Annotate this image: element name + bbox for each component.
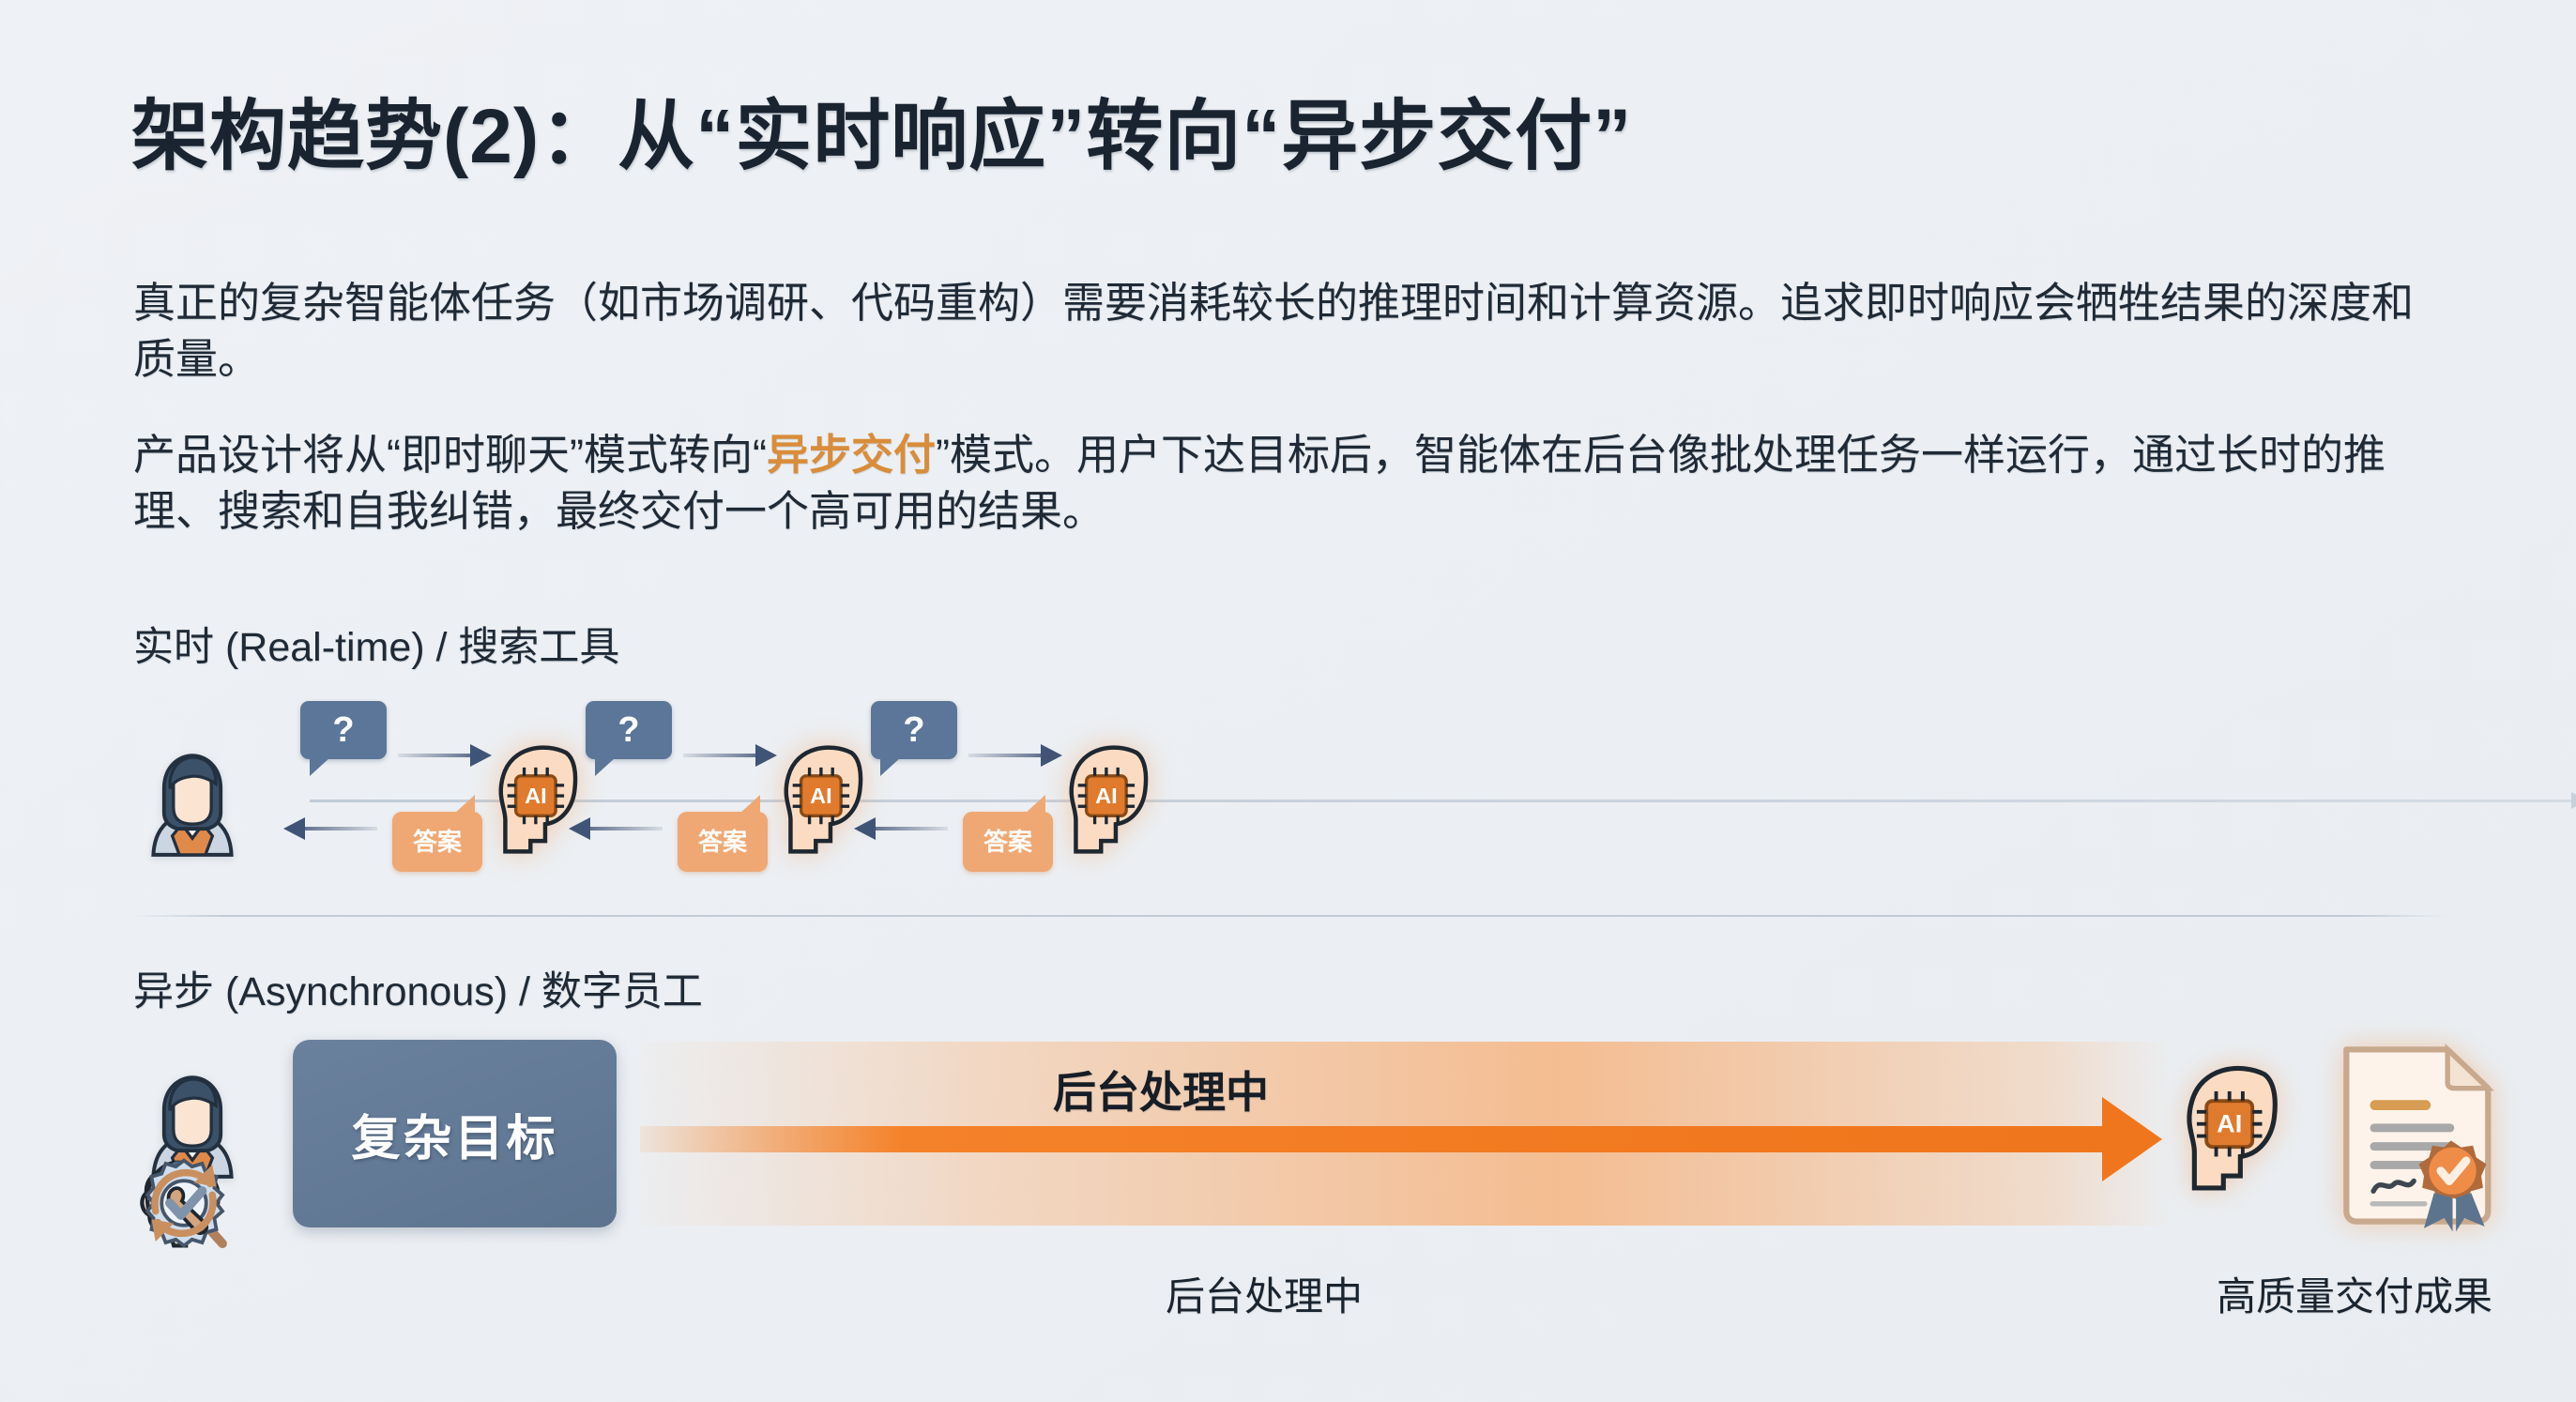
- arrow-right-icon: [398, 754, 488, 757]
- ai-head-icon: AI: [2170, 1062, 2292, 1205]
- slide-root: 架构趋势(2)：从“实时响应”转向“异步交付” 真正的复杂智能体任务（如市场调研…: [0, 0, 2576, 1402]
- answer-bubble-label: 答案: [678, 812, 768, 872]
- arrow-left-icon: [858, 827, 948, 831]
- answer-bubble: 答案: [392, 812, 482, 872]
- certificate-document-icon: [2322, 1036, 2509, 1235]
- section-divider: [133, 915, 2446, 917]
- svg-text:AI: AI: [2217, 1110, 2242, 1138]
- arrow-left-icon: [572, 827, 663, 831]
- highlight-async-delivery: 异步交付: [767, 431, 936, 479]
- page-title: 架构趋势(2)：从“实时响应”转向“异步交付”: [131, 73, 1632, 185]
- complex-goal-label: 复杂目标: [351, 1099, 557, 1169]
- svg-text:AI: AI: [525, 784, 547, 808]
- exchange-group: ? 答案 AI: [843, 699, 1115, 901]
- realtime-diagram: ? 答案 AI ? 答案: [133, 699, 2451, 901]
- section-label-async: 异步 (Asynchronous) / 数字员工: [133, 959, 703, 1017]
- answer-bubble-label: 答案: [392, 812, 482, 872]
- question-bubble-label: ?: [586, 701, 672, 759]
- intro-paragraph: 真正的复杂智能体任务（如市场调研、代码重构）需要消耗较长的推理时间和计算资源。追…: [133, 275, 2451, 388]
- exchange-group: ? 答案 AI: [272, 699, 544, 901]
- question-bubble: ?: [300, 701, 387, 759]
- processing-band-label: 后台处理中: [1053, 1059, 1269, 1120]
- caption-output: 高质量交付成果: [2217, 1265, 2492, 1322]
- svg-text:AI: AI: [1095, 784, 1118, 808]
- person-avatar-icon: [133, 746, 252, 864]
- async-diagram: 复杂目标 后台处理中: [133, 1023, 2451, 1314]
- answer-bubble: 答案: [963, 812, 1053, 872]
- detail-paragraph: 产品设计将从“即时聊天”模式转向“异步交付”模式。用户下达目标后，智能体在后台像…: [133, 427, 2451, 540]
- answer-bubble: 答案: [678, 812, 768, 872]
- question-bubble-label: ?: [300, 701, 387, 759]
- arrow-right-icon: [683, 754, 773, 757]
- complex-goal-box: 复杂目标: [293, 1040, 617, 1227]
- svg-text:AI: AI: [810, 784, 832, 808]
- caption-processing: 后台处理中: [1166, 1265, 1363, 1322]
- question-bubble: ?: [871, 701, 957, 759]
- section-label-realtime: 实时 (Real-time) / 搜索工具: [133, 615, 619, 673]
- question-bubble: ?: [586, 701, 672, 759]
- ai-head-icon: AI: [1055, 742, 1160, 866]
- arrow-left-icon: [287, 827, 377, 831]
- answer-bubble-label: 答案: [963, 812, 1053, 872]
- detail-paragraph-part-1: 产品设计将从“即时聊天”模式转向“: [133, 431, 767, 479]
- refresh-check-icon: [133, 1152, 235, 1254]
- arrow-right-icon: [968, 754, 1059, 757]
- question-bubble-label: ?: [871, 701, 957, 759]
- processing-arrow-icon: [640, 1126, 2104, 1152]
- exchange-group: ? 答案 AI: [557, 699, 830, 901]
